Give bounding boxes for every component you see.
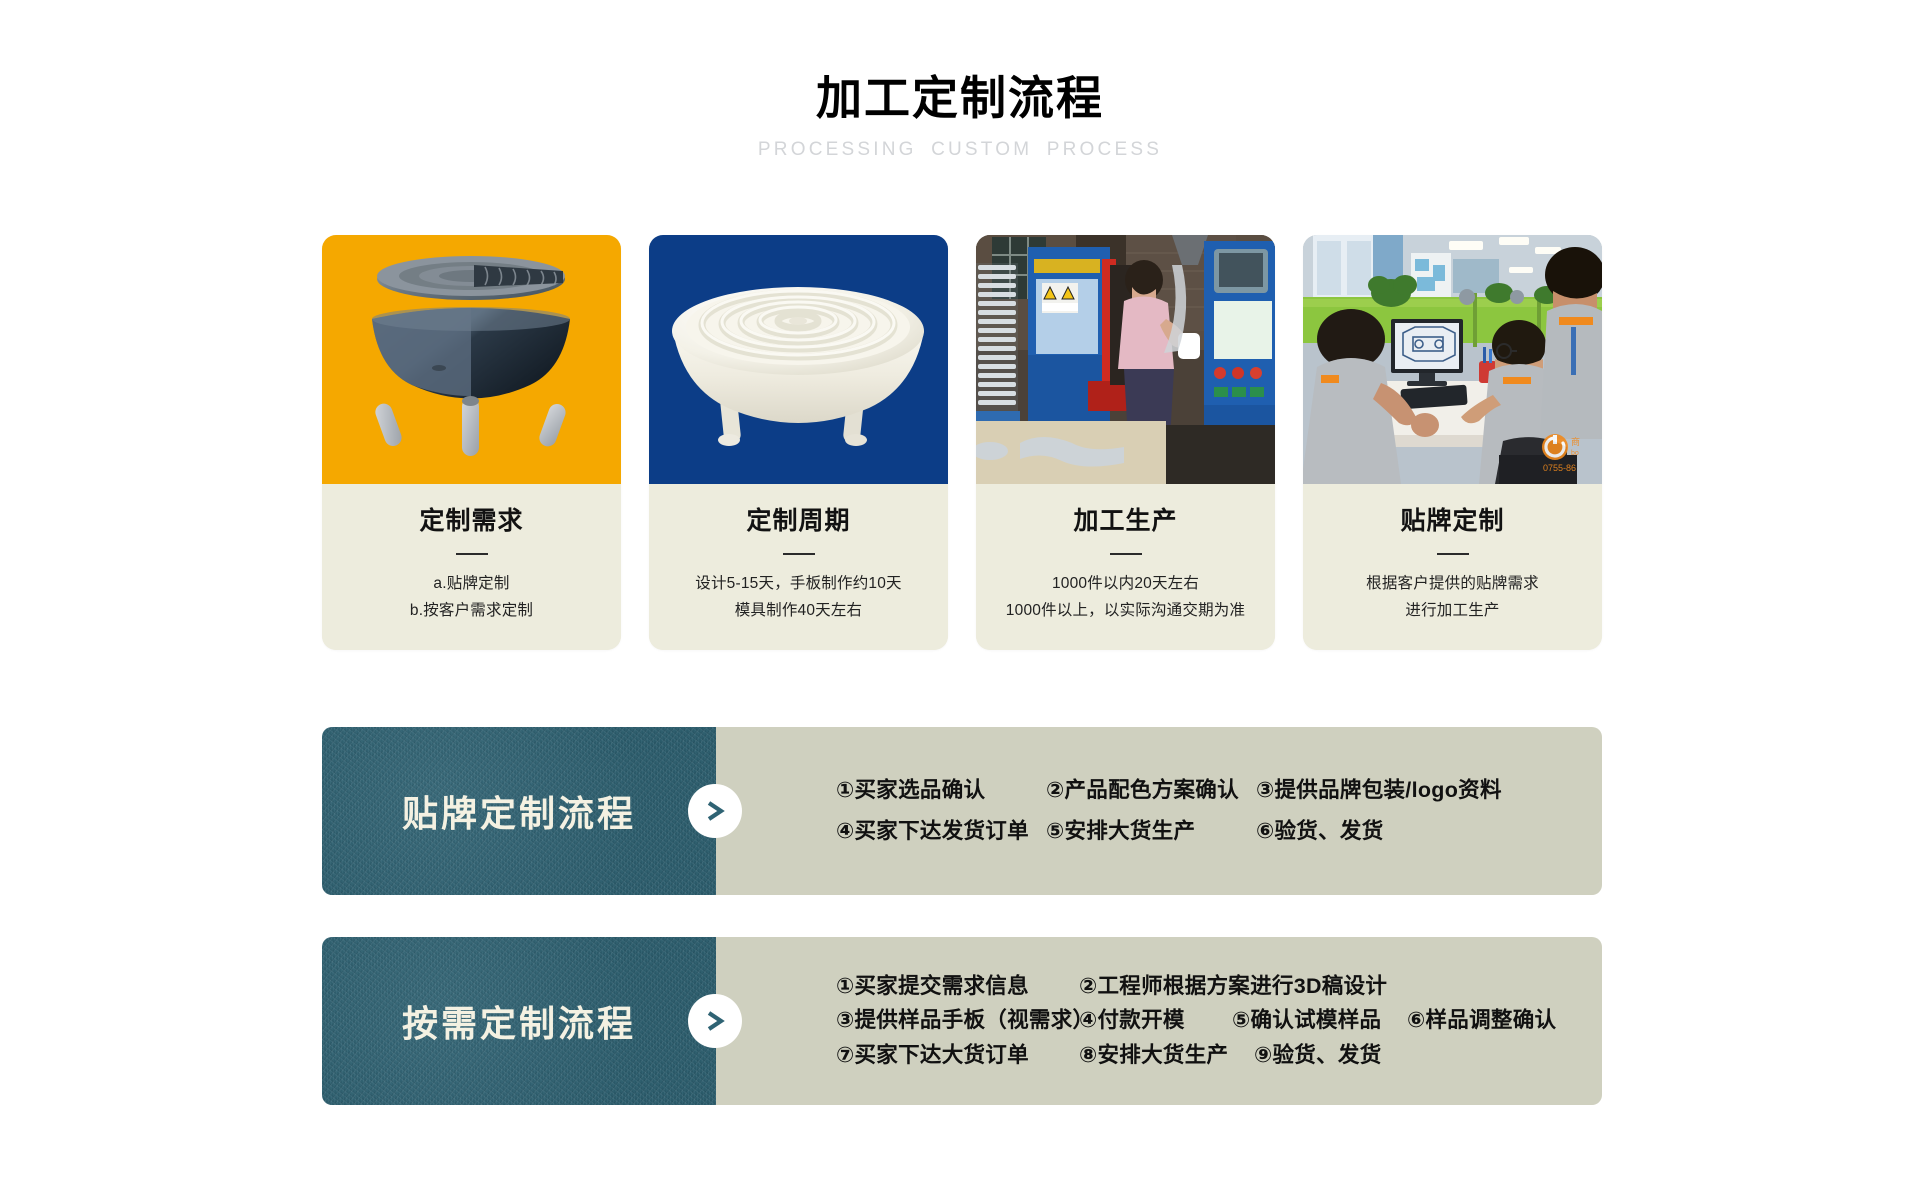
card-2-desc: 设计5-15天，手板制作约10天 模具制作40天左右 — [663, 571, 934, 624]
card-3-body: 加工生产 1000件以内20天左右 1000件以上，以实际沟通交期为准 — [976, 484, 1275, 650]
card-4-body: 贴牌定制 根据客户提供的贴牌需求 进行加工生产 — [1303, 484, 1602, 650]
svg-text:商: 商 — [1571, 436, 1580, 447]
svg-text:0755-86: 0755-86 — [1543, 463, 1576, 473]
ondemand-step-6: ⑥样品调整确认 — [1407, 1010, 1556, 1032]
card-1-divider — [456, 553, 488, 555]
ondemand-step-row-1: ①买家提交需求信息 ②工程师根据方案进行3D稿设计 — [836, 976, 1602, 998]
oem-step-5: ⑤安排大货生产 — [1046, 821, 1256, 843]
ondemand-process-banner[interactable]: 按需定制流程 ①买家提交需求信息 ②工程师根据方案进行3D稿设计 ③提供样品手板… — [322, 937, 1602, 1105]
ondemand-step-9: ⑨验货、发货 — [1254, 1045, 1382, 1067]
card-1-desc: a.贴牌定制 b.按客户需求定制 — [336, 571, 607, 624]
card-4-desc-line-2: 进行加工生产 — [1317, 598, 1588, 625]
card-2-image — [649, 235, 948, 484]
factory-machine-worker-photo-icon — [976, 235, 1275, 484]
process-card-1[interactable]: 定制需求 a.贴牌定制 b.按客户需求定制 — [322, 235, 621, 650]
ondemand-banner-steps: ①买家提交需求信息 ②工程师根据方案进行3D稿设计 ③提供样品手板（视需求） ④… — [716, 937, 1602, 1105]
oem-step-row-1: ①买家选品确认 ②产品配色方案确认 ③提供品牌包装/logo资料 — [836, 780, 1602, 802]
card-2-desc-line-1: 设计5-15天，手板制作约10天 — [663, 571, 934, 598]
ondemand-step-row-2: ③提供样品手板（视需求） ④付款开模 ⑤确认试模样品 ⑥样品调整确认 — [836, 1010, 1602, 1032]
oem-step-1: ①买家选品确认 — [836, 780, 1046, 802]
oem-step-3: ③提供品牌包装/logo资料 — [1256, 780, 1502, 802]
process-card-3[interactable]: 加工生产 1000件以内20天左右 1000件以上，以实际沟通交期为准 — [976, 235, 1275, 650]
ondemand-step-5: ⑤确认试模样品 — [1232, 1010, 1407, 1032]
card-2-body: 定制周期 设计5-15天，手板制作约10天 模具制作40天左右 — [649, 484, 948, 650]
card-1-image — [322, 235, 621, 484]
page-header: 加工定制流程 PROCESSING CUSTOM PROCESS — [0, 72, 1920, 161]
card-2-desc-line-2: 模具制作40天左右 — [663, 598, 934, 625]
ondemand-banner-label-text: 按需定制流程 — [402, 995, 636, 1047]
card-4-desc-line-1: 根据客户提供的贴牌需求 — [1317, 571, 1588, 598]
ondemand-step-3: ③提供样品手板（视需求） — [836, 1010, 1079, 1032]
exploded-product-render-icon — [322, 235, 621, 484]
card-2-title: 定制周期 — [663, 506, 934, 536]
oem-process-banner[interactable]: 贴牌定制流程 ①买家选品确认 ②产品配色方案确认 ③提供品牌包装/logo资料 … — [322, 727, 1602, 895]
oem-banner-label: 贴牌定制流程 — [322, 727, 716, 895]
svg-text:bo: bo — [1571, 450, 1579, 457]
ondemand-step-7: ⑦买家下达大货订单 — [836, 1045, 1079, 1067]
oem-step-6: ⑥验货、发货 — [1256, 821, 1384, 843]
office-engineers-cad-photo-icon: 商 bo 0755-86 — [1303, 235, 1602, 484]
ondemand-step-2: ②工程师根据方案进行3D稿设计 — [1079, 976, 1387, 998]
ondemand-banner-label: 按需定制流程 — [322, 937, 716, 1105]
process-cards: 定制需求 a.贴牌定制 b.按客户需求定制 — [322, 235, 1602, 650]
chevron-right-icon[interactable] — [688, 784, 742, 838]
ondemand-step-1: ①买家提交需求信息 — [836, 976, 1079, 998]
card-3-divider — [1110, 553, 1142, 555]
card-3-desc-line-2: 1000件以上，以实际沟通交期为准 — [990, 598, 1261, 625]
card-1-desc-line-2: b.按客户需求定制 — [336, 598, 607, 625]
oem-step-row-2: ④买家下达发货订单 ⑤安排大货生产 ⑥验货、发货 — [836, 821, 1602, 843]
ondemand-step-8: ⑧安排大货生产 — [1079, 1045, 1254, 1067]
card-4-image: 商 bo 0755-86 — [1303, 235, 1602, 484]
page-title: 加工定制流程 — [0, 72, 1920, 125]
card-3-image — [976, 235, 1275, 484]
card-4-divider — [1437, 553, 1469, 555]
oem-banner-steps: ①买家选品确认 ②产品配色方案确认 ③提供品牌包装/logo资料 ④买家下达发货… — [716, 727, 1602, 895]
oem-step-4: ④买家下达发货订单 — [836, 821, 1046, 843]
card-3-desc-line-1: 1000件以内20天左右 — [990, 571, 1261, 598]
card-1-desc-line-1: a.贴牌定制 — [336, 571, 607, 598]
process-card-2[interactable]: 定制周期 设计5-15天，手板制作约10天 模具制作40天左右 — [649, 235, 948, 650]
card-1-body: 定制需求 a.贴牌定制 b.按客户需求定制 — [322, 484, 621, 650]
card-2-divider — [783, 553, 815, 555]
card-3-title: 加工生产 — [990, 506, 1261, 536]
card-4-desc: 根据客户提供的贴牌需求 进行加工生产 — [1317, 571, 1588, 624]
card-4-title: 贴牌定制 — [1317, 506, 1588, 536]
ondemand-step-4: ④付款开模 — [1079, 1010, 1232, 1032]
white-prototype-photo-icon — [649, 235, 948, 484]
chevron-right-icon[interactable] — [688, 994, 742, 1048]
card-3-desc: 1000件以内20天左右 1000件以上，以实际沟通交期为准 — [990, 571, 1261, 624]
ondemand-step-row-3: ⑦买家下达大货订单 ⑧安排大货生产 ⑨验货、发货 — [836, 1045, 1602, 1067]
process-card-4[interactable]: 商 bo 0755-86 贴牌定制 根据客户提供的贴牌需求 进行加工生产 — [1303, 235, 1602, 650]
oem-step-2: ②产品配色方案确认 — [1046, 780, 1256, 802]
page-root: 加工定制流程 PROCESSING CUSTOM PROCESS — [0, 0, 1920, 1200]
card-1-title: 定制需求 — [336, 506, 607, 536]
oem-banner-label-text: 贴牌定制流程 — [402, 785, 636, 837]
page-subtitle: PROCESSING CUSTOM PROCESS — [0, 139, 1920, 161]
